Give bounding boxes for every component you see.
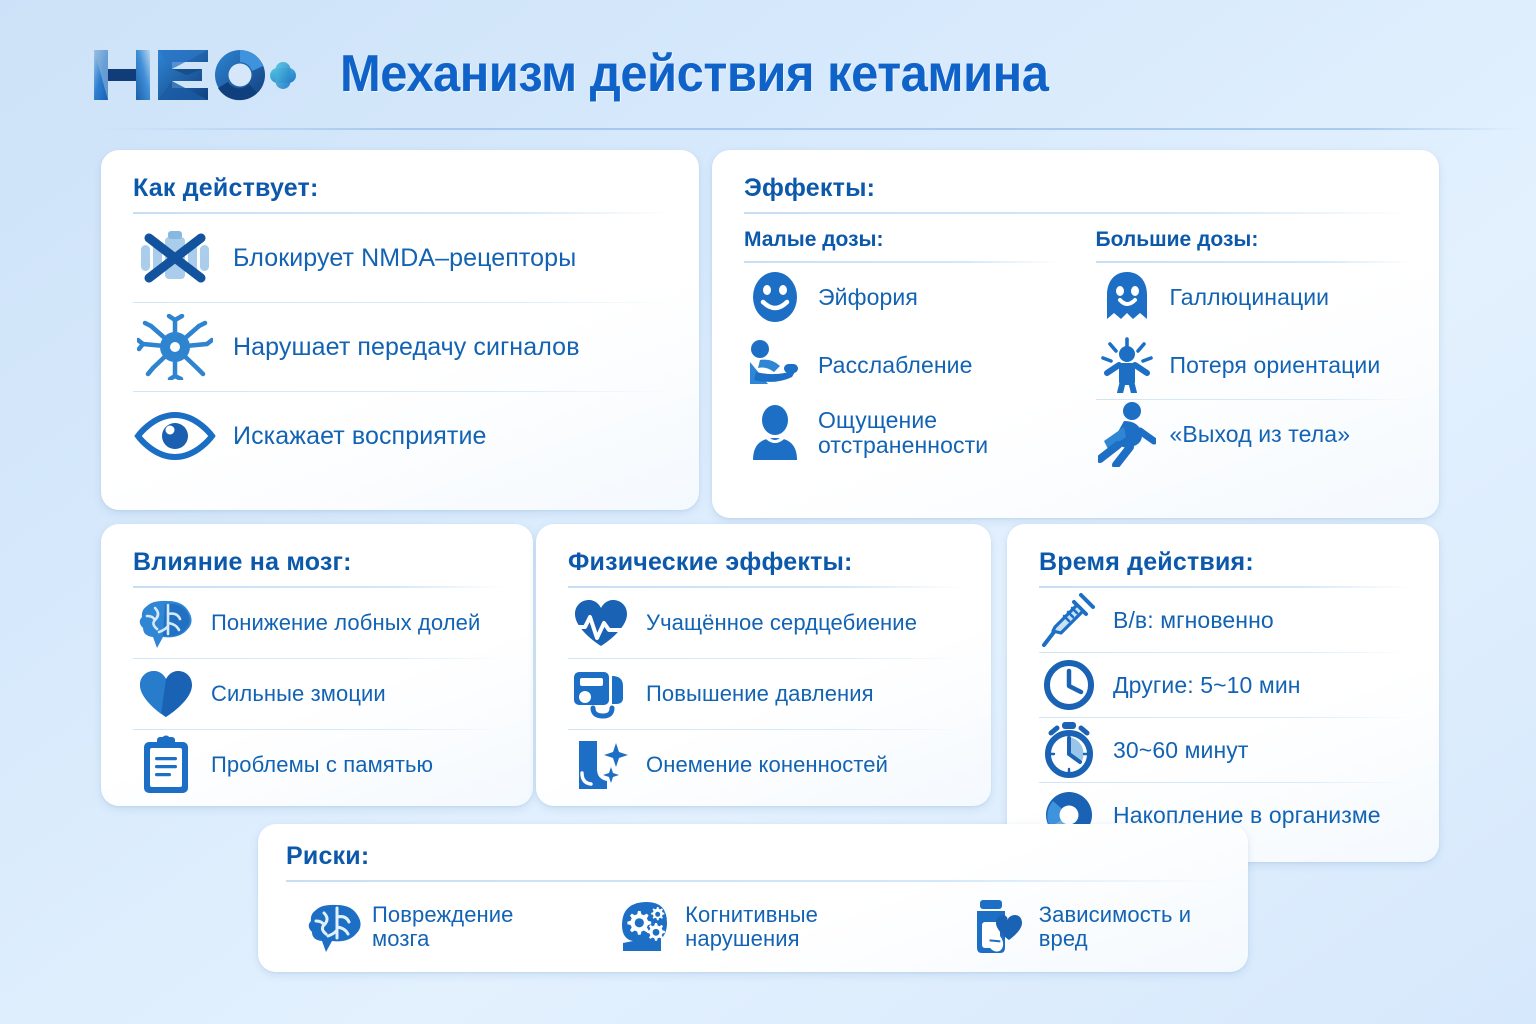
page-title: Механизм действия кетамина bbox=[340, 44, 1048, 104]
brain-damage-icon bbox=[302, 900, 364, 954]
clipboard-icon bbox=[133, 735, 199, 795]
list-item-label: В/в: мгновенно bbox=[1113, 608, 1274, 633]
list-item[interactable]: Потеря ориентации bbox=[1096, 331, 1412, 399]
reclining-person-icon bbox=[744, 336, 806, 394]
card-title: Эффекты: bbox=[744, 174, 1411, 203]
list-item[interactable]: Блокирует NMDA–рецепторы bbox=[133, 214, 671, 302]
infographic-page: Механизм действия кетамина Как действует… bbox=[0, 0, 1536, 1024]
list-item[interactable]: Повреждение мозга bbox=[302, 900, 555, 954]
list-item-label: Блокирует NMDA–рецепторы bbox=[233, 245, 576, 272]
header-divider bbox=[92, 128, 1522, 130]
list-item[interactable]: Другие: 5~10 мин bbox=[1039, 653, 1411, 717]
list-item[interactable]: Расслабление bbox=[744, 331, 1060, 399]
list-item-label: Сильные змоции bbox=[211, 682, 386, 706]
effects-column-low-dose: Малые дозы: Эйфория bbox=[744, 228, 1060, 468]
brand-logo bbox=[92, 44, 297, 106]
card-title: Физические эффекты: bbox=[568, 548, 963, 577]
list-item[interactable]: Онемение коненностей bbox=[568, 730, 963, 800]
card-brain-impact: Влияние на мозг: Понижение лобных долей bbox=[101, 524, 533, 806]
card-how-it-works: Как действует: bbox=[101, 150, 699, 510]
list-item[interactable]: Понижение лобных долей bbox=[133, 588, 505, 658]
list-item-label: Галлюцинации bbox=[1170, 285, 1330, 310]
card-title: Влияние на мозг: bbox=[133, 548, 505, 577]
smiley-face-icon bbox=[744, 269, 806, 325]
eye-icon bbox=[133, 412, 217, 460]
head-gears-icon bbox=[615, 899, 677, 955]
card-title: Риски: bbox=[286, 842, 1224, 871]
blood-pressure-monitor-icon bbox=[568, 666, 634, 722]
heart-icon bbox=[133, 668, 199, 720]
title-divider bbox=[744, 212, 1411, 214]
list-item-label: «Выход из тела» bbox=[1170, 422, 1351, 447]
heart-pulse-icon bbox=[568, 597, 634, 649]
column-title: Большие дозы: bbox=[1096, 228, 1412, 252]
list-item-label: Учащённое сердцебиение bbox=[646, 611, 917, 635]
list-item-label: Повышение давления bbox=[646, 682, 874, 706]
pill-bottle-icon bbox=[969, 898, 1031, 956]
list-item[interactable]: Искажает восприятие bbox=[133, 392, 671, 480]
list-item-label: Искажает восприятие bbox=[233, 423, 487, 450]
list-item-label: Проблемы с памятью bbox=[211, 753, 433, 777]
list-item-label: Расслабление bbox=[818, 353, 972, 378]
list-item-label: Понижение лобных долей bbox=[211, 611, 480, 635]
list-item-label: Эйфория bbox=[818, 285, 918, 310]
stopwatch-icon bbox=[1039, 721, 1099, 779]
list-item[interactable]: Ощущение отстраненности bbox=[744, 399, 1060, 467]
list-item-label: Когнитивные нарушения bbox=[685, 903, 913, 951]
list-item[interactable]: «Выход из тела» bbox=[1096, 400, 1412, 468]
effects-column-high-dose: Большие дозы: Галлюцинации bbox=[1096, 228, 1412, 468]
list-item[interactable]: 30~60 минут bbox=[1039, 718, 1411, 782]
title-divider bbox=[286, 880, 1224, 882]
list-item[interactable]: Повышение давления bbox=[568, 659, 963, 729]
list-item-label: Нарушает передачу сигналов bbox=[233, 334, 580, 361]
list-item-label: Повреждение мозга bbox=[372, 903, 555, 951]
floating-body-icon bbox=[1096, 401, 1158, 467]
list-item[interactable]: Сильные змоции bbox=[133, 659, 505, 729]
list-item-label: Потеря ориентации bbox=[1170, 353, 1381, 378]
list-item-label: 30~60 минут bbox=[1113, 738, 1248, 763]
list-item-label: Онемение коненностей bbox=[646, 753, 888, 777]
list-item-label: Зависимость и вред bbox=[1039, 903, 1224, 951]
list-item[interactable]: Учащённое сердцебиение bbox=[568, 588, 963, 658]
list-item[interactable]: В/в: мгновенно bbox=[1039, 588, 1411, 652]
nmda-receptor-blocked-icon bbox=[133, 227, 217, 289]
list-item[interactable]: Когнитивные нарушения bbox=[615, 899, 913, 955]
list-item-label: Другие: 5~10 мин bbox=[1113, 673, 1301, 698]
list-item[interactable]: Зависимость и вред bbox=[969, 898, 1224, 956]
list-item[interactable]: Проблемы с памятью bbox=[133, 730, 505, 800]
column-title: Малые дозы: bbox=[744, 228, 1060, 252]
clock-icon bbox=[1039, 659, 1099, 711]
dizzy-person-icon bbox=[1096, 337, 1158, 393]
card-risks: Риски: Повреждение моз bbox=[258, 824, 1248, 972]
person-bust-icon bbox=[744, 404, 806, 462]
header: Механизм действия кетамина bbox=[0, 0, 1536, 132]
neuron-icon bbox=[133, 314, 217, 380]
syringe-icon bbox=[1039, 591, 1099, 649]
brain-icon bbox=[133, 596, 199, 650]
card-title: Как действует: bbox=[133, 174, 671, 203]
card-duration: Время действия: bbox=[1007, 524, 1439, 862]
card-title: Время действия: bbox=[1039, 548, 1411, 577]
list-item[interactable]: Эйфория bbox=[744, 263, 1060, 331]
card-physical-effects: Физические эффекты: Учащённое сердцебиен… bbox=[536, 524, 991, 806]
list-item[interactable]: Нарушает передачу сигналов bbox=[133, 303, 671, 391]
card-effects: Эффекты: Малые дозы: bbox=[712, 150, 1439, 518]
list-item-label: Ощущение отстраненности bbox=[818, 408, 1060, 458]
numb-leg-icon bbox=[568, 737, 634, 793]
ghost-icon bbox=[1096, 269, 1158, 325]
list-item[interactable]: Галлюцинации bbox=[1096, 263, 1412, 331]
